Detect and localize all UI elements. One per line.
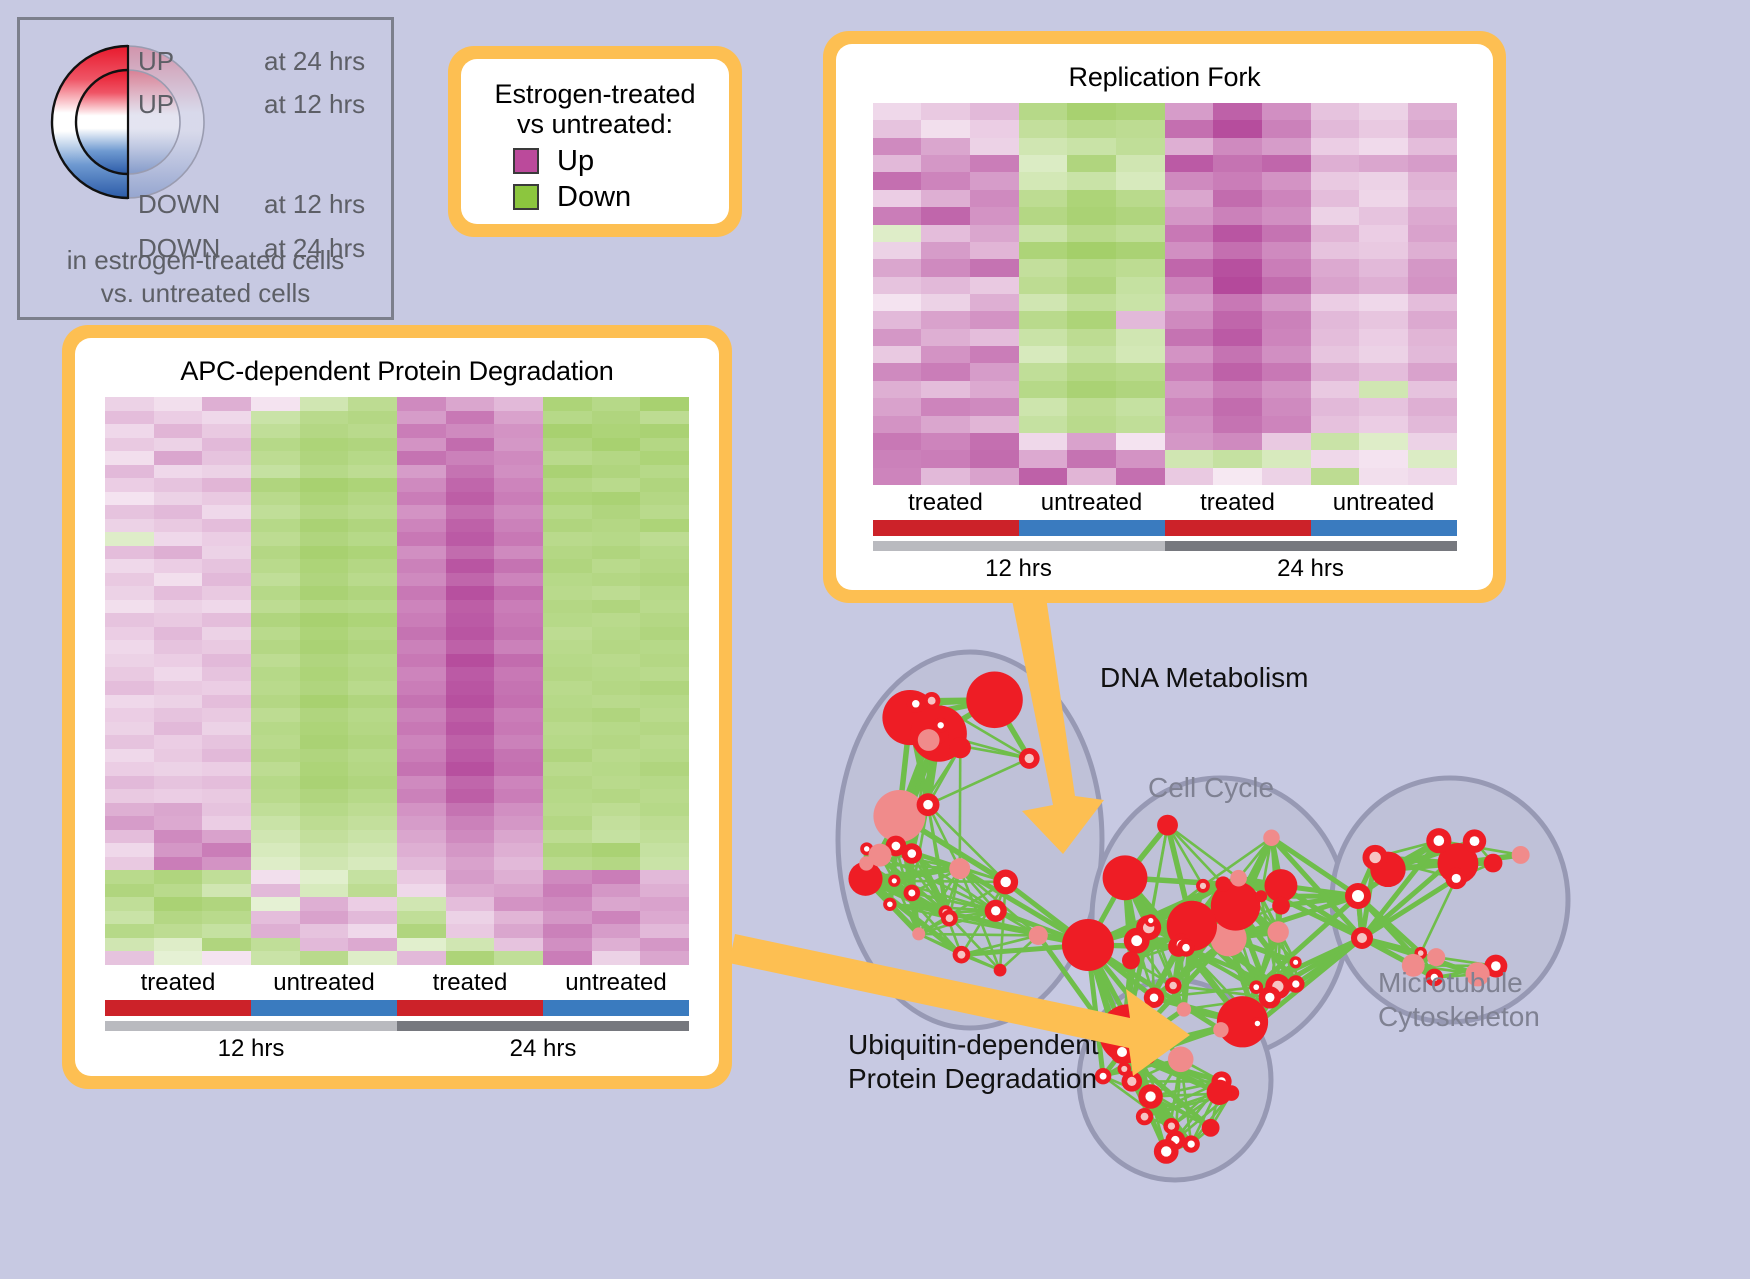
heatmap-cell bbox=[446, 816, 495, 830]
heatmap-cell bbox=[921, 294, 970, 311]
heatmap-cell bbox=[1165, 172, 1214, 189]
heatmap-cell bbox=[1408, 138, 1457, 155]
heatmap-cell bbox=[592, 870, 641, 884]
network-node[interactable] bbox=[994, 964, 1007, 977]
heatmap-cell bbox=[640, 789, 689, 803]
heatmap-cell bbox=[543, 492, 592, 506]
heatmap-cell bbox=[1359, 207, 1408, 224]
heatmap-cell bbox=[446, 397, 495, 411]
heatmap-cell bbox=[300, 627, 349, 641]
heatmap-cell bbox=[251, 884, 300, 898]
heatmap-cell bbox=[1116, 381, 1165, 398]
group-label: treated bbox=[397, 969, 543, 997]
heatmap-cell bbox=[1262, 433, 1311, 450]
heatmap-cell bbox=[105, 613, 154, 627]
heatmap-cell bbox=[1165, 294, 1214, 311]
heatmap-cell bbox=[105, 586, 154, 600]
heatmap-cell bbox=[1408, 398, 1457, 415]
heatmap-cell bbox=[592, 613, 641, 627]
heatmap-cell bbox=[543, 911, 592, 925]
network-node[interactable] bbox=[904, 885, 921, 902]
heatmap-cell bbox=[251, 681, 300, 695]
heatmap-cell bbox=[251, 573, 300, 587]
heatmap-cell bbox=[1019, 103, 1068, 120]
heatmap-cell bbox=[1165, 450, 1214, 467]
legend-item-list: Up Down bbox=[513, 143, 719, 215]
heatmap-cell bbox=[543, 505, 592, 519]
heatmap-cell bbox=[1165, 103, 1214, 120]
heatmap-cell bbox=[494, 627, 543, 641]
network-node[interactable] bbox=[1445, 868, 1467, 890]
heatmap-cell bbox=[300, 803, 349, 817]
network-node[interactable] bbox=[933, 718, 948, 733]
heatmap-cell bbox=[921, 172, 970, 189]
key-time: at 12 hrs bbox=[264, 191, 365, 217]
heatmap-cell bbox=[494, 573, 543, 587]
heatmap-cell bbox=[970, 172, 1019, 189]
panel-title: APC-dependent Protein Degradation bbox=[89, 356, 705, 387]
network-node[interactable] bbox=[868, 844, 891, 867]
heatmap-cell bbox=[105, 600, 154, 614]
heatmap-cell bbox=[921, 398, 970, 415]
network-node[interactable] bbox=[1122, 951, 1140, 969]
up-color-swatch bbox=[513, 148, 539, 174]
heatmap-cell bbox=[592, 627, 641, 641]
heatmap-cell bbox=[640, 762, 689, 776]
heatmap-cell bbox=[970, 225, 1019, 242]
node-inner bbox=[892, 878, 897, 883]
network-node[interactable] bbox=[1138, 1046, 1156, 1064]
heatmap-cell bbox=[1019, 346, 1068, 363]
heatmap-cell bbox=[202, 654, 251, 668]
treatment-bar-segment bbox=[873, 520, 1019, 536]
heatmap-cell bbox=[397, 667, 446, 681]
heatmap-cell bbox=[1408, 468, 1457, 485]
heatmap-cell bbox=[543, 627, 592, 641]
heatmap-cell bbox=[446, 722, 495, 736]
network-node[interactable] bbox=[1290, 956, 1302, 968]
heatmap-cell bbox=[1213, 329, 1262, 346]
heatmap-cell bbox=[348, 546, 397, 560]
heatmap-cell bbox=[154, 762, 203, 776]
heatmap-cell bbox=[446, 897, 495, 911]
heatmap-cell bbox=[543, 559, 592, 573]
network-node[interactable] bbox=[1144, 988, 1164, 1008]
time-label-row: 12 hrs24 hrs bbox=[873, 555, 1457, 583]
heatmap-cell bbox=[348, 519, 397, 533]
heatmap-cell bbox=[970, 346, 1019, 363]
network-node[interactable] bbox=[1202, 1119, 1220, 1137]
heatmap-cell bbox=[397, 708, 446, 722]
heatmap-cell bbox=[154, 667, 203, 681]
heatmap-cell bbox=[202, 451, 251, 465]
heatmap-cell bbox=[202, 938, 251, 952]
heatmap-cell bbox=[105, 735, 154, 749]
heatmap-cell bbox=[446, 654, 495, 668]
network-node[interactable] bbox=[888, 875, 900, 887]
network-node[interactable] bbox=[1427, 948, 1445, 966]
heatmap-cell bbox=[446, 627, 495, 641]
treatment-bar-segment bbox=[105, 1000, 251, 1016]
network-node[interactable] bbox=[1362, 845, 1387, 870]
heatmap-cell bbox=[1213, 433, 1262, 450]
timepoint-bar-segment bbox=[873, 541, 1165, 551]
heatmap-cell bbox=[921, 155, 970, 172]
heatmap-cell bbox=[154, 924, 203, 938]
heatmap-cell bbox=[640, 749, 689, 763]
heatmap-cell bbox=[348, 505, 397, 519]
network-node[interactable] bbox=[873, 790, 925, 842]
heatmap-cell bbox=[300, 397, 349, 411]
heatmap-cell bbox=[397, 438, 446, 452]
heatmap-cell bbox=[348, 695, 397, 709]
heatmap-cell bbox=[202, 465, 251, 479]
network-node[interactable] bbox=[1154, 1139, 1179, 1164]
heatmap-cell bbox=[1408, 207, 1457, 224]
network-node[interactable] bbox=[1163, 1118, 1179, 1134]
heatmap-cell bbox=[640, 505, 689, 519]
heatmap-cell bbox=[494, 438, 543, 452]
timepoint-color-bar bbox=[105, 1021, 689, 1031]
cluster-label-dna-metabolism: DNA Metabolism bbox=[1100, 662, 1309, 694]
network-node[interactable] bbox=[1259, 986, 1281, 1008]
network-node[interactable] bbox=[1165, 977, 1182, 994]
heatmap-cell bbox=[494, 816, 543, 830]
heatmap-cell bbox=[921, 242, 970, 259]
heatmap-cell bbox=[348, 857, 397, 871]
heatmap-cell bbox=[446, 951, 495, 965]
heatmap-cell bbox=[1262, 363, 1311, 380]
heatmap-cell bbox=[592, 830, 641, 844]
heatmap-cell bbox=[1359, 468, 1408, 485]
network-node[interactable] bbox=[953, 946, 971, 964]
heatmap-cell bbox=[251, 830, 300, 844]
heatmap-cell bbox=[446, 938, 495, 952]
node-inner bbox=[1369, 852, 1380, 863]
heatmap-cell bbox=[251, 924, 300, 938]
heatmap-cell bbox=[300, 667, 349, 681]
heatmap-cell bbox=[300, 424, 349, 438]
heatmap-cell bbox=[202, 532, 251, 546]
heatmap-cell bbox=[1165, 190, 1214, 207]
heatmap-cell bbox=[300, 897, 349, 911]
network-node[interactable] bbox=[1019, 748, 1040, 769]
heatmap-cell bbox=[154, 465, 203, 479]
heatmap-cell bbox=[251, 600, 300, 614]
network-node[interactable] bbox=[1230, 870, 1247, 887]
network-node[interactable] bbox=[1168, 1047, 1194, 1073]
node-inner bbox=[892, 842, 901, 851]
heatmap-cell bbox=[397, 776, 446, 790]
network-node[interactable] bbox=[1251, 1017, 1264, 1030]
heatmap-cell bbox=[154, 627, 203, 641]
heatmap-cell bbox=[397, 627, 446, 641]
heatmap-cell bbox=[873, 259, 922, 276]
network-node[interactable] bbox=[1484, 854, 1503, 873]
heatmap-cell bbox=[446, 465, 495, 479]
heatmap-cell bbox=[1019, 242, 1068, 259]
network-node[interactable] bbox=[966, 672, 1023, 729]
heatmap-cell bbox=[970, 190, 1019, 207]
heatmap-cell bbox=[446, 546, 495, 560]
heatmap-cell bbox=[300, 762, 349, 776]
heatmap-cell bbox=[543, 451, 592, 465]
heatmap-cell bbox=[873, 155, 922, 172]
heatmap-cell bbox=[543, 600, 592, 614]
heatmap-cell bbox=[446, 451, 495, 465]
network-node[interactable] bbox=[1255, 890, 1267, 902]
network-node[interactable] bbox=[912, 927, 925, 940]
heatmap-cell bbox=[640, 830, 689, 844]
network-node[interactable] bbox=[1213, 1022, 1228, 1037]
network-node[interactable] bbox=[1138, 1084, 1163, 1109]
expression-ring-key: UP at 24 hrs UP at 12 hrs DOWN at 12 hrs… bbox=[17, 17, 394, 320]
network-node[interactable] bbox=[1177, 939, 1195, 957]
heatmap-cell bbox=[640, 843, 689, 857]
heatmap-cell bbox=[348, 816, 397, 830]
treatment-bar-segment bbox=[251, 1000, 397, 1016]
network-node[interactable] bbox=[1177, 1002, 1191, 1016]
network-node[interactable] bbox=[993, 869, 1018, 894]
network-node[interactable] bbox=[950, 737, 971, 758]
heatmap-axis: treateduntreatedtreateduntreated 12 hrs2… bbox=[873, 489, 1457, 583]
heatmap-cell bbox=[970, 450, 1019, 467]
heatmap-cell bbox=[397, 640, 446, 654]
heatmap-cell bbox=[446, 708, 495, 722]
heatmap-cell bbox=[300, 938, 349, 952]
heatmap-cell bbox=[300, 911, 349, 925]
heatmap-cell bbox=[348, 424, 397, 438]
heatmap-cell bbox=[640, 411, 689, 425]
network-node[interactable] bbox=[1062, 919, 1114, 971]
heatmap-cell bbox=[543, 681, 592, 695]
heatmap-cell bbox=[1408, 259, 1457, 276]
network-node[interactable] bbox=[941, 910, 958, 927]
network-node[interactable] bbox=[949, 858, 970, 879]
heatmap-cell bbox=[592, 424, 641, 438]
heatmap-cell bbox=[640, 681, 689, 695]
heatmap-cell bbox=[1311, 311, 1360, 328]
network-node[interactable] bbox=[1144, 914, 1157, 927]
heatmap-cell bbox=[873, 381, 922, 398]
heatmap-cell bbox=[446, 857, 495, 871]
treatment-color-bar bbox=[105, 1000, 689, 1016]
heatmap-cell bbox=[105, 573, 154, 587]
heatmap-cell bbox=[300, 438, 349, 452]
heatmap-cell bbox=[348, 776, 397, 790]
heatmap-cell bbox=[1408, 103, 1457, 120]
heatmap-cell bbox=[921, 277, 970, 294]
heatmap-cell bbox=[1262, 329, 1311, 346]
node-inner bbox=[908, 889, 915, 896]
network-node[interactable] bbox=[1136, 1108, 1153, 1125]
network-node[interactable] bbox=[902, 843, 923, 864]
heatmap-grid bbox=[873, 103, 1457, 485]
heatmap-cell bbox=[592, 505, 641, 519]
heatmap-cell bbox=[300, 695, 349, 709]
heatmap-cell bbox=[1019, 190, 1068, 207]
node-inner bbox=[1182, 944, 1190, 952]
heatmap-cell bbox=[1067, 398, 1116, 415]
heatmap-cell bbox=[592, 803, 641, 817]
network-node[interactable] bbox=[1351, 927, 1373, 949]
network-node[interactable] bbox=[917, 793, 940, 816]
heatmap-cell bbox=[494, 789, 543, 803]
heatmap-cell bbox=[592, 397, 641, 411]
heatmap-cell bbox=[1067, 207, 1116, 224]
network-node[interactable] bbox=[1207, 1080, 1232, 1105]
heatmap-cell bbox=[1213, 416, 1262, 433]
heatmap-cell bbox=[348, 492, 397, 506]
network-node[interactable] bbox=[1463, 829, 1486, 852]
heatmap-cell bbox=[543, 424, 592, 438]
heatmap-cell bbox=[300, 870, 349, 884]
heatmap-cell bbox=[1165, 138, 1214, 155]
heatmap-cell bbox=[202, 924, 251, 938]
heatmap-cell bbox=[202, 803, 251, 817]
heatmap-cell bbox=[640, 438, 689, 452]
heatmap-cell bbox=[1408, 225, 1457, 242]
heatmap-cell bbox=[397, 857, 446, 871]
network-node[interactable] bbox=[923, 692, 940, 709]
network-node[interactable] bbox=[1426, 828, 1451, 853]
heatmap-cell bbox=[921, 138, 970, 155]
network-node[interactable] bbox=[1345, 883, 1371, 909]
network-node[interactable] bbox=[1215, 876, 1230, 891]
heatmap-cell bbox=[446, 586, 495, 600]
heatmap-cell bbox=[105, 816, 154, 830]
heatmap-cell bbox=[543, 411, 592, 425]
time-label: 12 hrs bbox=[105, 1035, 397, 1063]
heatmap-cell bbox=[543, 951, 592, 965]
heatmap-cell bbox=[921, 120, 970, 137]
network-node[interactable] bbox=[907, 695, 925, 713]
heatmap-cell bbox=[592, 722, 641, 736]
heatmap-cell bbox=[348, 924, 397, 938]
heatmap-cell bbox=[1213, 294, 1262, 311]
heatmap-cell bbox=[1019, 381, 1068, 398]
heatmap-cell bbox=[397, 600, 446, 614]
network-node[interactable] bbox=[1110, 1040, 1134, 1064]
heatmap-cell bbox=[494, 857, 543, 871]
heatmap-cell bbox=[592, 600, 641, 614]
heatmap-cell bbox=[397, 451, 446, 465]
heatmap-cell bbox=[1311, 138, 1360, 155]
heatmap-cell bbox=[154, 519, 203, 533]
network-node[interactable] bbox=[985, 900, 1007, 922]
heatmap-cell bbox=[592, 546, 641, 560]
heatmap-cell bbox=[300, 722, 349, 736]
heatmap-cell bbox=[105, 789, 154, 803]
network-node[interactable] bbox=[1272, 897, 1290, 915]
heatmap-cell bbox=[105, 640, 154, 654]
heatmap-cell bbox=[1262, 120, 1311, 137]
apc-degradation-panel: APC-dependent Protein Degradation treate… bbox=[62, 325, 732, 1089]
heatmap-cell bbox=[494, 546, 543, 560]
heatmap-cell bbox=[543, 613, 592, 627]
network-node[interactable] bbox=[918, 729, 940, 751]
network-node[interactable] bbox=[1103, 855, 1148, 900]
heatmap-cell bbox=[1067, 311, 1116, 328]
heatmap-cell bbox=[154, 695, 203, 709]
heatmap-cell bbox=[543, 722, 592, 736]
heatmap-cell bbox=[251, 938, 300, 952]
heatmap-cell bbox=[873, 346, 922, 363]
heatmap-cell bbox=[1213, 346, 1262, 363]
heatmap-cell bbox=[348, 870, 397, 884]
heatmap-cell bbox=[105, 857, 154, 871]
heatmap-cell bbox=[446, 505, 495, 519]
heatmap-cell bbox=[251, 438, 300, 452]
heatmap-cell bbox=[154, 857, 203, 871]
heatmap-cell bbox=[348, 451, 397, 465]
network-node[interactable] bbox=[1267, 921, 1288, 942]
network-node[interactable] bbox=[1029, 926, 1048, 945]
heatmap-cell bbox=[1213, 277, 1262, 294]
heatmap-cell bbox=[1116, 294, 1165, 311]
replication-fork-panel: Replication Fork treateduntreatedtreated… bbox=[823, 31, 1506, 603]
heatmap-cell bbox=[300, 681, 349, 695]
heatmap-cell bbox=[348, 600, 397, 614]
network-node[interactable] bbox=[1512, 846, 1530, 864]
heatmap-cell bbox=[105, 803, 154, 817]
heatmap-cell bbox=[640, 924, 689, 938]
heatmap-cell bbox=[543, 654, 592, 668]
heatmap-cell bbox=[397, 830, 446, 844]
network-node[interactable] bbox=[1263, 830, 1280, 847]
heatmap-cell bbox=[202, 735, 251, 749]
heatmap-cell bbox=[494, 640, 543, 654]
heatmap-cell bbox=[202, 884, 251, 898]
heatmap-cell bbox=[251, 951, 300, 965]
heatmap-cell bbox=[446, 924, 495, 938]
heatmap-cell bbox=[348, 803, 397, 817]
network-node[interactable] bbox=[883, 898, 896, 911]
heatmap-cell bbox=[543, 938, 592, 952]
heatmap-cell bbox=[494, 559, 543, 573]
network-node[interactable] bbox=[1196, 879, 1210, 893]
heatmap-cell bbox=[1116, 346, 1165, 363]
heatmap-cell bbox=[154, 897, 203, 911]
network-node[interactable] bbox=[1122, 1071, 1143, 1092]
heatmap-cell bbox=[154, 438, 203, 452]
heatmap-cell bbox=[105, 654, 154, 668]
heatmap-cell bbox=[300, 708, 349, 722]
heatmap-cell bbox=[1213, 103, 1262, 120]
heatmap-cell bbox=[592, 451, 641, 465]
heatmap-cell bbox=[348, 681, 397, 695]
heatmap-cell bbox=[300, 843, 349, 857]
network-node[interactable] bbox=[1157, 815, 1178, 836]
key-caption-line2: vs. untreated cells bbox=[20, 277, 391, 310]
heatmap-cell bbox=[592, 749, 641, 763]
heatmap-cell bbox=[494, 681, 543, 695]
heatmap-cell bbox=[348, 749, 397, 763]
node-inner bbox=[1200, 883, 1206, 889]
heatmap-cell bbox=[1116, 433, 1165, 450]
heatmap-cell bbox=[1262, 155, 1311, 172]
heatmap-cell bbox=[397, 613, 446, 627]
heatmap-cell bbox=[640, 559, 689, 573]
heatmap-cell bbox=[154, 776, 203, 790]
network-node[interactable] bbox=[1182, 1135, 1199, 1152]
node-inner bbox=[1100, 1073, 1107, 1080]
heatmap-cell bbox=[251, 519, 300, 533]
heatmap-cell bbox=[1408, 311, 1457, 328]
heatmap-cell bbox=[1408, 450, 1457, 467]
heatmap-cell bbox=[300, 735, 349, 749]
heatmap-cell bbox=[154, 573, 203, 587]
